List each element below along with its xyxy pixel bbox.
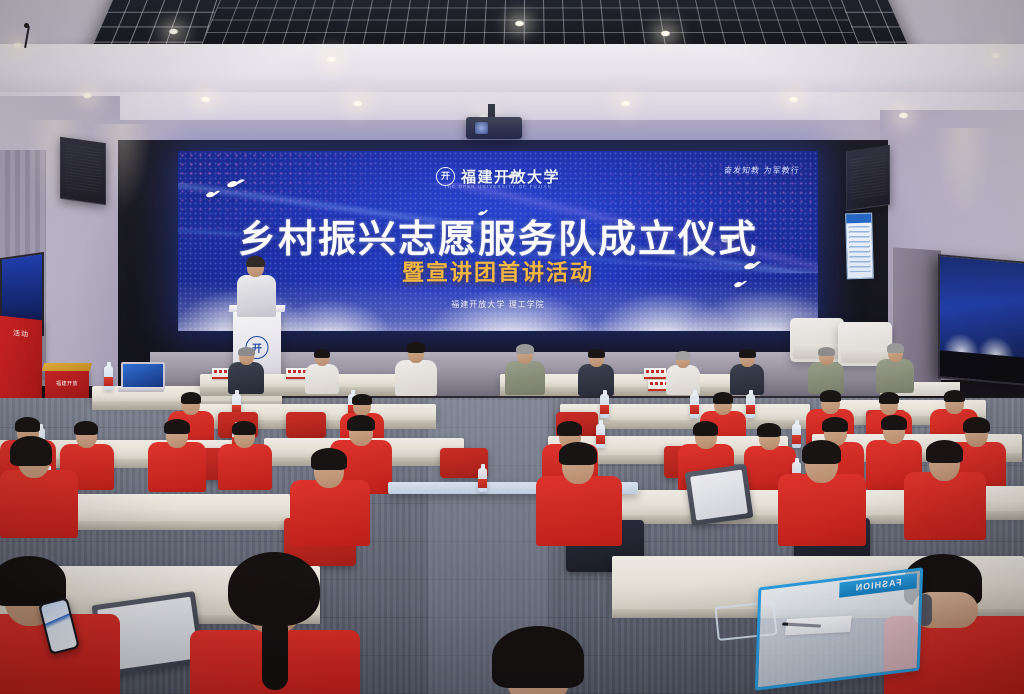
- person-hair: [881, 415, 907, 430]
- person-body: [395, 360, 437, 396]
- downlight: [514, 20, 525, 27]
- desk-tablet: [685, 464, 754, 526]
- water-bottle: [690, 394, 699, 418]
- downlight: [352, 100, 363, 107]
- person-hair: [181, 392, 201, 404]
- person-hair: [311, 448, 347, 470]
- person-hair: [963, 417, 990, 433]
- bottle-label: [104, 377, 113, 386]
- person-body: [0, 470, 78, 538]
- person-hair: [238, 347, 255, 356]
- downlight: [788, 96, 799, 103]
- person-hair: [74, 421, 98, 435]
- person-hair: [693, 421, 718, 436]
- box-label: 福建开放: [45, 380, 89, 387]
- left-wall-speaker: [60, 137, 106, 205]
- control-desk-laptop: [118, 362, 164, 392]
- presenter-hair: [246, 256, 265, 267]
- downlight: [82, 92, 93, 99]
- side-display-monitor: [938, 254, 1024, 386]
- person-hair: [802, 440, 841, 464]
- person-hair: [492, 626, 584, 688]
- person-hair: [164, 419, 190, 434]
- person-hair: [232, 421, 256, 435]
- folder-brand-label: FASHION: [839, 573, 917, 598]
- person-body: [148, 442, 206, 492]
- person-hair: [818, 347, 835, 356]
- red-banner-text: 活动: [0, 316, 42, 353]
- person-hair: [944, 390, 965, 402]
- audience-desk: [612, 490, 912, 516]
- university-name-en: THE OPEN UNIVERSITY OF FUJIAN: [178, 184, 818, 189]
- speaker-grill: [65, 144, 102, 192]
- presenter-at-podium: [235, 258, 277, 316]
- red-ceremony-box: 福建开放: [45, 368, 89, 398]
- stage-armchair: [790, 318, 844, 362]
- notice-header-bar: [846, 214, 871, 224]
- person-body: [228, 362, 264, 394]
- person-body: [536, 476, 622, 546]
- downlight: [200, 96, 211, 103]
- person-hair: [407, 342, 425, 353]
- person-hair: [0, 556, 66, 606]
- box-gold-lid: [42, 363, 92, 371]
- right-wall-speaker: [846, 145, 890, 211]
- person-hair: [516, 344, 534, 354]
- water-bottle: [600, 394, 609, 418]
- photo-scene: 奋发知教 为军教行 开 福建开放大学 THE OPEN UNIVERSITY O…: [0, 0, 1024, 694]
- person-body: [505, 361, 545, 395]
- person-hair: [926, 440, 963, 463]
- person-hair: [713, 392, 733, 404]
- person-body: [290, 480, 370, 546]
- ceiling-soffit: [0, 44, 1024, 98]
- downlight: [990, 52, 1001, 59]
- person-hair: [352, 394, 372, 405]
- downlight: [898, 112, 909, 119]
- person-hair: [757, 423, 781, 437]
- person-hair: [559, 442, 597, 465]
- presenter-body: [237, 275, 276, 317]
- person-body: [305, 364, 339, 394]
- tablet-screen: [690, 470, 748, 521]
- person-body: [808, 362, 844, 394]
- person-hair: [10, 436, 52, 466]
- wall-notice-poster: [845, 213, 874, 280]
- person-body: [578, 364, 614, 396]
- person-hair: [739, 349, 756, 358]
- downlight: [168, 28, 179, 35]
- ceiling-projector: [466, 117, 522, 139]
- water-bottle: [792, 424, 801, 448]
- downlight: [620, 100, 631, 107]
- wall-light-glow: [934, 128, 994, 218]
- document-folder: FASHION: [755, 567, 923, 690]
- notice-text-lines: [848, 226, 870, 273]
- water-bottle: [746, 394, 755, 418]
- person-hair: [557, 421, 582, 436]
- person-body: [778, 474, 866, 546]
- table-name-card: [644, 368, 666, 379]
- downlight: [326, 56, 337, 63]
- person-body: [876, 359, 914, 393]
- speaker-grill: [850, 152, 885, 199]
- person-hair: [822, 417, 848, 432]
- person-hair: [314, 349, 330, 358]
- projector-lens: [475, 122, 488, 134]
- person-hair: [675, 351, 691, 360]
- person-hair: [15, 417, 40, 432]
- person-body: [904, 472, 986, 540]
- ponytail: [262, 616, 288, 690]
- water-bottle: [104, 366, 113, 390]
- person-hair: [887, 343, 904, 353]
- audience-chair: [286, 412, 326, 438]
- person-body: [730, 364, 764, 395]
- person-hair: [588, 349, 605, 358]
- person-hair: [347, 415, 375, 431]
- person-hair: [820, 390, 841, 402]
- person-hair: [228, 552, 320, 626]
- person-hair: [879, 392, 899, 404]
- ceiling-grid-panel-inner: [201, 0, 859, 46]
- microphone-head: [24, 23, 29, 28]
- water-bottle: [596, 424, 605, 448]
- downlight: [660, 30, 671, 37]
- laptop-screen: [121, 362, 165, 390]
- person-body: [218, 444, 272, 490]
- laptop-base: [118, 387, 164, 392]
- downlight: [12, 42, 23, 49]
- water-bottle: [478, 468, 487, 492]
